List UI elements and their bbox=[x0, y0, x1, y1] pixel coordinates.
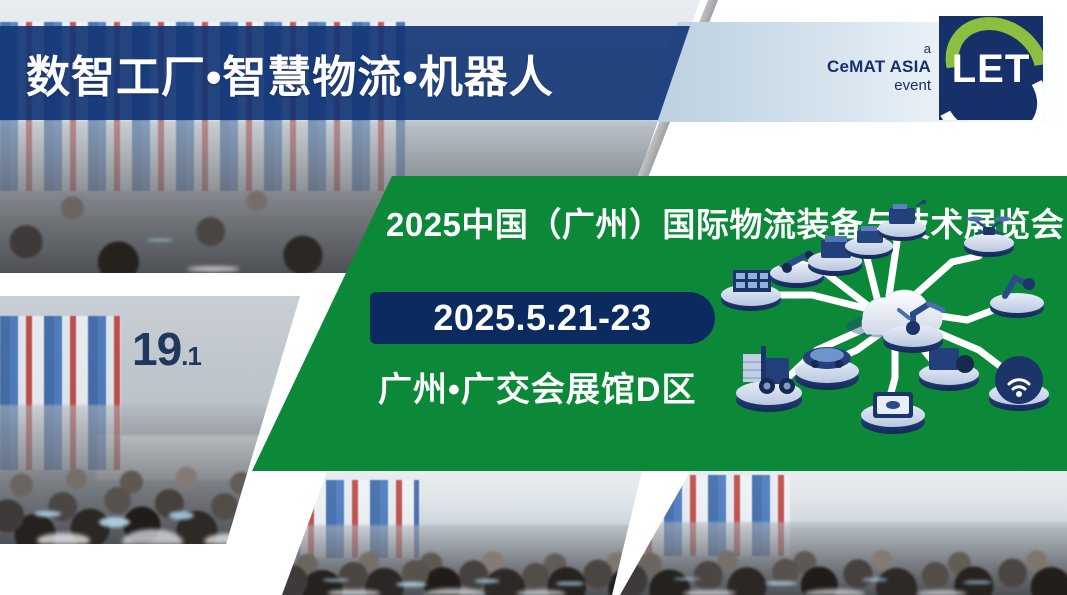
logo-caption-line-3: event bbox=[827, 77, 931, 95]
let-wordmark: LET bbox=[939, 47, 1043, 92]
green-info-panel: 2025中国（广州）国际物流装备与技术展览会 2025.5.21-23 广州•广… bbox=[252, 176, 1067, 471]
crowd-foreground bbox=[282, 558, 642, 595]
hall-number-suffix: .1 bbox=[181, 341, 201, 371]
hall-number-main: 19 bbox=[132, 323, 181, 375]
photo-exhibition-crowd-right bbox=[620, 465, 1067, 595]
photo-exhibition-aisle bbox=[282, 470, 642, 595]
date-text: 2025.5.21-23 bbox=[433, 297, 651, 339]
photo-hall-entrance: 19.1 bbox=[0, 296, 318, 544]
date-badge: 2025.5.21-23 bbox=[370, 292, 715, 344]
hall-number-sign: 19.1 bbox=[132, 322, 201, 376]
node-drone bbox=[964, 217, 1014, 258]
venue-text: 广州•广交会展馆D区 bbox=[378, 362, 696, 411]
headline-banner: 数智工厂•智慧物流•机器人 bbox=[0, 26, 690, 120]
let-logo-block[interactable]: a CeMAT ASIA event LET bbox=[827, 16, 1043, 120]
headline-text: 数智工厂•智慧物流•机器人 bbox=[26, 41, 554, 105]
poster-canvas: 数智工厂•智慧物流•机器人 a CeMAT ASIA event LET 19.… bbox=[0, 0, 1067, 595]
logo-caption-line-2: CeMAT ASIA bbox=[827, 57, 931, 77]
cemat-asia-caption: a CeMAT ASIA event bbox=[827, 41, 931, 94]
node-picking-arm bbox=[990, 278, 1044, 318]
logistics-cloud-network-illustration bbox=[717, 200, 1057, 450]
crowd-foreground bbox=[620, 556, 1067, 595]
logo-caption-line-1: a bbox=[827, 41, 931, 56]
crowd-foreground bbox=[0, 470, 318, 544]
node-forklift bbox=[736, 346, 802, 412]
node-tablet-terminal bbox=[861, 392, 925, 434]
let-logo-mark: LET bbox=[939, 16, 1043, 120]
node-agv-robot bbox=[878, 200, 927, 241]
